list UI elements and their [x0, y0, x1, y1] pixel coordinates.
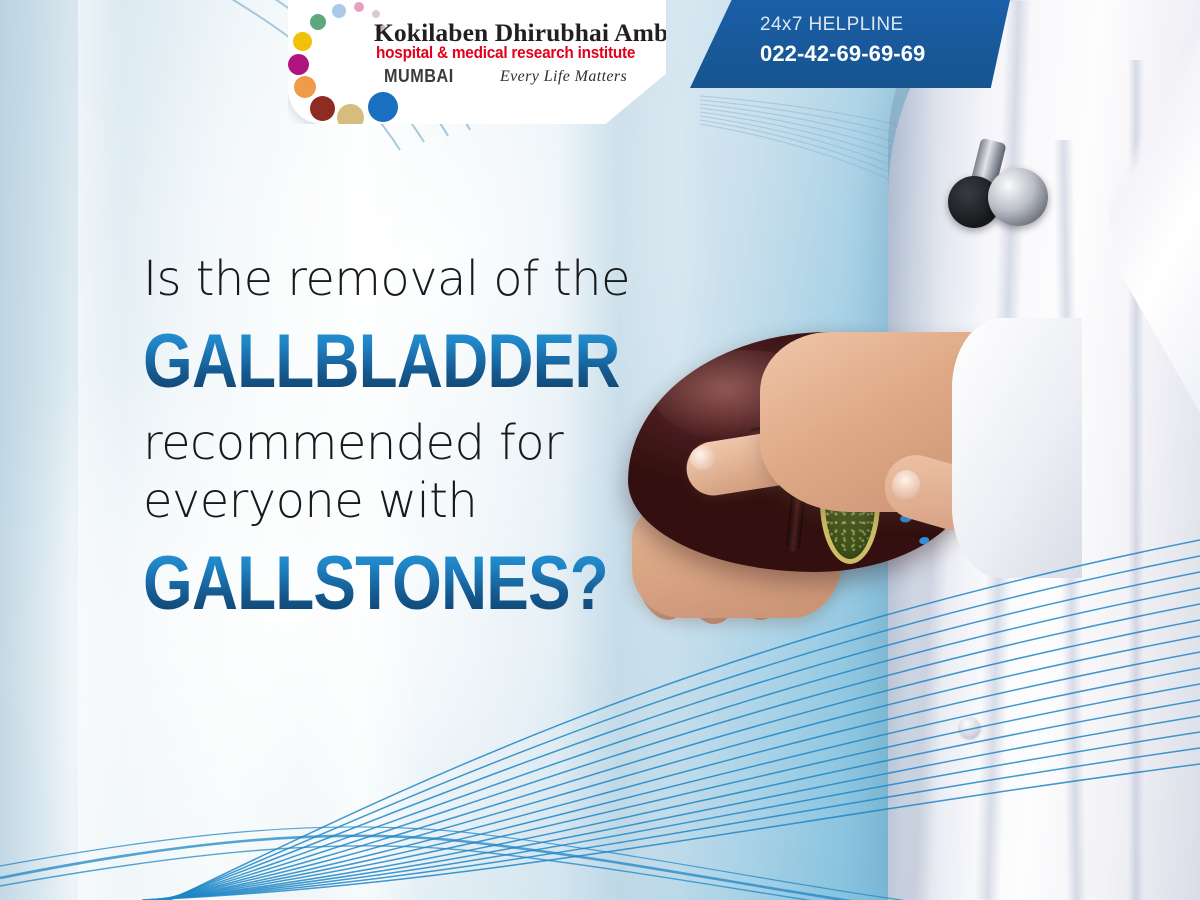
logo-dots-ring-icon [292, 0, 388, 100]
hospital-subtitle: hospital & medical research institute [376, 44, 635, 63]
logo-dot-0 [354, 2, 364, 12]
logo-dot-8 [310, 96, 335, 121]
coat-cuff [952, 318, 1082, 578]
logo-dot-1 [332, 4, 346, 18]
hospital-logo-card[interactable]: Kokilaben Dhirubhai Ambani hospital & me… [288, 0, 666, 124]
hospital-city: MUMBAI [384, 66, 454, 87]
logo-dot-5 [293, 32, 312, 51]
logo-dot-2 [372, 10, 380, 18]
headline-emphasis-gallstones: GALLSTONES? [143, 542, 608, 626]
logo-dot-3 [310, 14, 326, 30]
logo-dot-7 [294, 76, 316, 98]
headline-line-4: everyone with [143, 472, 710, 530]
logo-dot-6 [288, 54, 309, 75]
headline-line-1: Is the removal of the [143, 250, 710, 308]
headline-emphasis-gallbladder: GALLBLADDER [143, 320, 620, 404]
background-streak [0, 0, 70, 900]
background-streak [78, 0, 124, 900]
stethoscope-diaphragm [988, 168, 1048, 226]
helpline-phone-number[interactable]: 022-42-69-69-69 [760, 41, 925, 67]
headline-line-3: recommended for [143, 414, 710, 472]
headline-block: Is the removal of the GALLBLADDER recomm… [143, 250, 710, 626]
coat-button [960, 718, 980, 738]
logo-dot-9 [337, 104, 364, 131]
logo-dot-10 [368, 92, 398, 122]
helpline-label: 24x7 HELPLINE [760, 14, 904, 36]
hospital-tagline: Every Life Matters [500, 68, 627, 86]
helpline-banner: 24x7 HELPLINE 022-42-69-69-69 [690, 0, 1010, 88]
poster-canvas: Is the removal of the GALLBLADDER recomm… [0, 0, 1200, 900]
